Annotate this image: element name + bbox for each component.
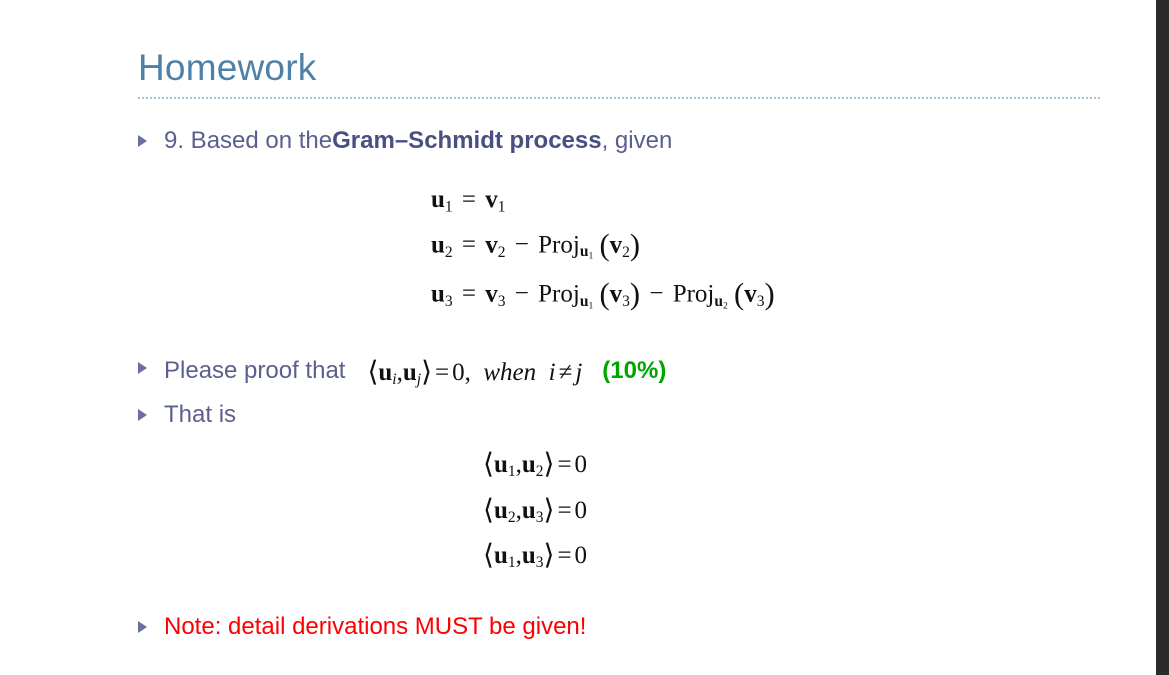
eq1-lhs-vector: u bbox=[431, 186, 445, 213]
triangle-bullet-icon bbox=[138, 612, 164, 633]
inner3-angle-open: ⟨ bbox=[483, 540, 494, 571]
triangle-bullet-icon bbox=[138, 353, 164, 374]
equation-inner-product-2: ⟨u2,u3⟩=0 bbox=[483, 488, 1118, 533]
eq2-term1-subscript: 2 bbox=[498, 243, 506, 260]
condition-vector-2: u bbox=[403, 359, 417, 386]
eq2-proj-operator: Proj bbox=[538, 231, 580, 258]
eq2-paren-open: ( bbox=[599, 228, 609, 262]
inner3-vector-2: u bbox=[522, 542, 536, 569]
equation-inner-product-3: ⟨u1,u3⟩=0 bbox=[483, 533, 1118, 578]
eq2-equals: = bbox=[459, 231, 479, 258]
equation-block-inner-products: ⟨u1,u2⟩=0 ⟨u2,u3⟩=0 ⟨u1,u3⟩=0 bbox=[483, 442, 1118, 578]
points-badge: (10%) bbox=[602, 356, 666, 386]
inner1-angle-close: ⟩ bbox=[544, 449, 555, 480]
inner2-subscript-1: 2 bbox=[508, 509, 516, 526]
bullet-item-2: Please proof that ⟨ui,uj⟩=0, when i≠j (1… bbox=[138, 353, 1118, 388]
eq2-paren-close: ) bbox=[630, 228, 640, 262]
eq3-minus-1: − bbox=[512, 280, 532, 307]
inner2-zero: 0 bbox=[575, 497, 588, 524]
eq1-rhs-vector: v bbox=[485, 186, 498, 213]
eq2-arg-vector: v bbox=[610, 231, 623, 258]
bullet-1-prefix: 9. Based on the bbox=[164, 126, 332, 156]
bullet-2-label: Please proof that bbox=[164, 356, 345, 386]
equation-inner-product-1: ⟨u1,u2⟩=0 bbox=[483, 442, 1118, 487]
eq3-paren1-close: ) bbox=[630, 277, 640, 311]
inner2-vector-1: u bbox=[494, 497, 508, 524]
inner2-equals: = bbox=[554, 497, 574, 524]
condition-equals: = bbox=[432, 359, 452, 386]
bullet-1-suffix: , given bbox=[602, 126, 673, 156]
inner1-subscript-1: 1 bbox=[508, 464, 516, 481]
eq1-rhs-subscript: 1 bbox=[498, 198, 506, 215]
equation-u2: u2 = v2 − Proju1 (v2) bbox=[431, 221, 1118, 270]
bullet-3-label: That is bbox=[164, 400, 236, 430]
inner3-subscript-2: 3 bbox=[536, 554, 544, 571]
eq2-minus: − bbox=[512, 231, 532, 258]
title-block: Homework bbox=[138, 48, 1100, 99]
title-divider bbox=[138, 97, 1100, 99]
eq3-equals: = bbox=[459, 280, 479, 307]
eq2-term1-vector: v bbox=[485, 231, 498, 258]
bullet-item-3: That is bbox=[138, 400, 1118, 430]
slide-canvas: Homework 9. Based on the Gram–Schmidt pr… bbox=[0, 0, 1156, 675]
eq3-proj1-operator: Proj bbox=[538, 280, 580, 307]
equation-block-definitions: u1 = v1 u2 = v2 − Proju1 (v2) u3 = v3 − … bbox=[431, 180, 1118, 319]
eq2-arg-subscript: 2 bbox=[622, 243, 630, 260]
eq3-lhs-vector: u bbox=[431, 280, 445, 307]
condition-zero: 0, bbox=[452, 359, 471, 386]
slide-body: 9. Based on the Gram–Schmidt process , g… bbox=[138, 126, 1118, 644]
inner3-subscript-1: 1 bbox=[508, 554, 516, 571]
eq2-proj-sub-index: 1 bbox=[588, 251, 593, 262]
spacer-before-inner-products bbox=[138, 432, 1118, 442]
equation-u1: u1 = v1 bbox=[431, 180, 1118, 221]
inner2-vector-2: u bbox=[522, 497, 536, 524]
eq3-arg1-subscript: 3 bbox=[622, 293, 630, 310]
bullet-item-4-text: Note: detail derivations MUST be given! bbox=[164, 612, 1118, 642]
spacer-before-note bbox=[138, 578, 1118, 612]
eq3-proj2-subscript: u2 bbox=[714, 293, 727, 310]
bullet-item-1: 9. Based on the Gram–Schmidt process , g… bbox=[138, 126, 1118, 156]
eq3-arg2-vector: v bbox=[744, 280, 757, 307]
condition-index-i: i bbox=[549, 359, 556, 386]
eq2-proj-subscript: u1 bbox=[580, 243, 593, 260]
right-edge-band bbox=[1156, 0, 1169, 675]
eq3-term1-subscript: 3 bbox=[498, 293, 506, 310]
eq3-proj2-sub-vector: u bbox=[714, 293, 723, 310]
eq3-paren2-open: ( bbox=[734, 277, 744, 311]
inner1-equals: = bbox=[554, 451, 574, 478]
condition-vector-1: u bbox=[378, 359, 392, 386]
eq3-lhs-subscript: 3 bbox=[445, 293, 453, 310]
note-text: Note: detail derivations MUST be given! bbox=[164, 612, 586, 642]
bullet-item-4-note: Note: detail derivations MUST be given! bbox=[138, 612, 1118, 642]
page-title: Homework bbox=[138, 48, 1100, 89]
eq1-lhs-subscript: 1 bbox=[445, 198, 453, 215]
eq2-lhs-subscript: 2 bbox=[445, 243, 453, 260]
condition-not-equal-sign: ≠ bbox=[556, 359, 576, 386]
spacer-after-equations bbox=[138, 319, 1118, 353]
inner1-angle-open: ⟨ bbox=[483, 449, 494, 480]
inner2-angle-close: ⟩ bbox=[544, 495, 555, 526]
eq3-proj1-subscript: u1 bbox=[580, 293, 593, 310]
inner3-vector-1: u bbox=[494, 542, 508, 569]
eq3-term1-vector: v bbox=[485, 280, 498, 307]
bullet-1-strong: Gram–Schmidt process bbox=[332, 126, 601, 156]
inner2-angle-open: ⟨ bbox=[483, 495, 494, 526]
condition-index-j: j bbox=[575, 359, 582, 386]
triangle-bullet-icon bbox=[138, 400, 164, 421]
eq3-proj2-sub-index: 2 bbox=[723, 300, 728, 311]
eq3-proj2-operator: Proj bbox=[673, 280, 715, 307]
eq3-paren1-open: ( bbox=[599, 277, 609, 311]
condition-expression: ⟨ui,uj⟩=0, when i≠j bbox=[367, 355, 582, 390]
condition-when-word: when bbox=[483, 359, 536, 386]
eq3-paren2-close: ) bbox=[764, 277, 774, 311]
equation-u3: u3 = v3 − Proju1 (v3) − Proju2 (v3) bbox=[431, 270, 1118, 319]
condition-angle-close: ⟩ bbox=[421, 357, 432, 388]
bullet-item-2-text: Please proof that ⟨ui,uj⟩=0, when i≠j (1… bbox=[164, 353, 1118, 388]
eq3-minus-2: − bbox=[646, 280, 666, 307]
inner1-vector-2: u bbox=[522, 451, 536, 478]
bullet-item-1-text: 9. Based on the Gram–Schmidt process , g… bbox=[164, 126, 1118, 156]
bullet-item-3-text: That is bbox=[164, 400, 1118, 430]
eq3-arg1-vector: v bbox=[610, 280, 623, 307]
eq1-equals: = bbox=[459, 186, 479, 213]
spacer-after-bullet-2 bbox=[138, 390, 1118, 400]
eq3-proj1-sub-index: 1 bbox=[588, 300, 593, 311]
eq2-lhs-vector: u bbox=[431, 231, 445, 258]
inner1-vector-1: u bbox=[494, 451, 508, 478]
triangle-bullet-icon bbox=[138, 126, 164, 147]
inner1-subscript-2: 2 bbox=[536, 464, 544, 481]
inner3-angle-close: ⟩ bbox=[544, 540, 555, 571]
inner3-zero: 0 bbox=[575, 542, 588, 569]
inner3-equals: = bbox=[554, 542, 574, 569]
condition-angle-open: ⟨ bbox=[367, 357, 378, 388]
inner1-zero: 0 bbox=[575, 451, 588, 478]
spacer-after-bullet-1 bbox=[138, 158, 1118, 180]
inner2-subscript-2: 3 bbox=[536, 509, 544, 526]
